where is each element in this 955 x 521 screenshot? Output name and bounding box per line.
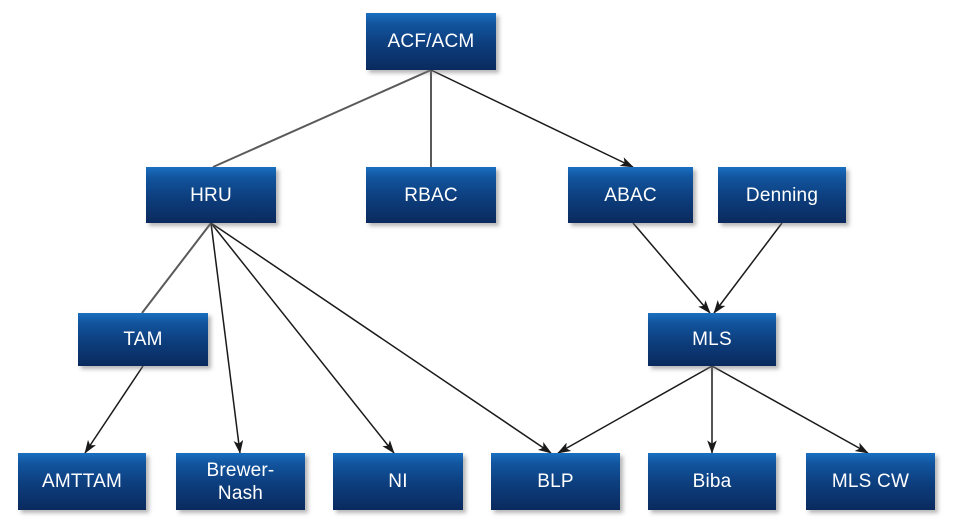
node-denning[interactable]: Denning <box>718 167 846 223</box>
node-acf_acm[interactable]: ACF/ACM <box>366 13 496 70</box>
node-label-brewer_nash: Brewer- Nash <box>207 459 275 505</box>
node-label-mls: MLS <box>692 328 732 351</box>
node-tam[interactable]: TAM <box>78 313 208 366</box>
edge-abac-to-mls <box>633 223 710 313</box>
node-rbac[interactable]: RBAC <box>366 167 496 223</box>
edge-hru-to-blp <box>211 223 551 453</box>
edge-hru-to-brewer_nash <box>211 223 240 453</box>
node-label-rbac: RBAC <box>404 184 458 207</box>
edge-mls-to-blp <box>558 366 712 453</box>
diagram-canvas: ACF/ACMHRURBACABACDenningTAMMLSAMTTAMBre… <box>0 0 955 521</box>
node-hru[interactable]: HRU <box>146 167 276 223</box>
node-mls_cw[interactable]: MLS CW <box>806 453 935 510</box>
node-label-tam: TAM <box>123 328 162 351</box>
node-ni[interactable]: NI <box>333 453 463 510</box>
edge-hru-to-tam <box>142 223 211 313</box>
edge-tam-to-amttam <box>85 366 143 453</box>
edge-layer <box>0 0 955 521</box>
node-amttam[interactable]: AMTTAM <box>18 453 146 510</box>
node-mls[interactable]: MLS <box>648 313 776 366</box>
node-label-hru: HRU <box>190 184 232 207</box>
node-blp[interactable]: BLP <box>491 453 620 510</box>
node-label-biba: Biba <box>693 470 732 493</box>
edge-acf_acm-to-abac <box>431 70 633 167</box>
node-label-amttam: AMTTAM <box>42 470 122 493</box>
node-label-ni: NI <box>388 470 407 493</box>
node-label-acf_acm: ACF/ACM <box>388 30 475 53</box>
node-label-mls_cw: MLS CW <box>832 470 909 493</box>
edge-denning-to-mls <box>714 223 782 313</box>
node-brewer_nash[interactable]: Brewer- Nash <box>176 453 305 510</box>
node-biba[interactable]: Biba <box>648 453 776 510</box>
node-label-abac: ABAC <box>604 184 657 207</box>
node-label-blp: BLP <box>537 470 574 493</box>
edge-hru-to-ni <box>211 223 394 453</box>
node-label-denning: Denning <box>746 184 818 207</box>
node-abac[interactable]: ABAC <box>568 167 693 223</box>
edge-mls-to-mls_cw <box>712 366 868 453</box>
edges-group <box>85 70 868 453</box>
edge-acf_acm-to-hru <box>213 70 431 167</box>
